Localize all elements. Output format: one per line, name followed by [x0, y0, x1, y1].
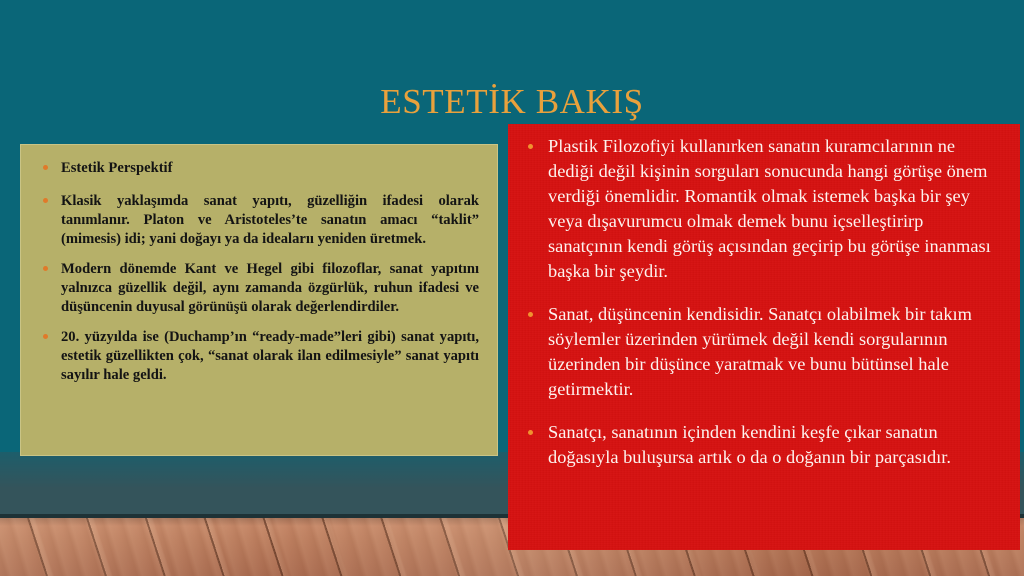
list-item-text: Modern dönemde Kant ve Hegel gibi filozo…: [61, 261, 479, 315]
presentation-slide: ESTETİK BAKIŞ Estetik Perspektif Klasik …: [0, 0, 1024, 576]
list-item: Plastik Filozofiyi kullanırken sanatın k…: [522, 134, 1002, 284]
list-item-text: Sanatçı, sanatının içinden kendini keşfe…: [548, 422, 951, 467]
list-item: Estetik Perspektif: [39, 159, 479, 178]
list-item-text: Klasik yaklaşımda sanat yapıtı, güzelliğ…: [61, 193, 479, 247]
list-item: 20. yüzyılda ise (Duchamp’ın “ready-made…: [39, 328, 479, 385]
bullet-dot-icon: [528, 430, 533, 435]
list-item: Sanatçı, sanatının içinden kendini keşfe…: [522, 420, 1002, 470]
slide-title: ESTETİK BAKIŞ: [0, 82, 1024, 122]
bullet-dot-icon: [43, 165, 48, 170]
bullet-dot-icon: [528, 144, 533, 149]
list-item: Klasik yaklaşımda sanat yapıtı, güzelliğ…: [39, 192, 479, 249]
list-item-text: Estetik Perspektif: [61, 160, 172, 176]
bullet-dot-icon: [43, 334, 48, 339]
right-content-panel: Plastik Filozofiyi kullanırken sanatın k…: [508, 124, 1020, 550]
list-item-text: Plastik Filozofiyi kullanırken sanatın k…: [548, 136, 991, 281]
list-item-text: 20. yüzyılda ise (Duchamp’ın “ready-made…: [61, 329, 479, 383]
list-item: Sanat, düşüncenin kendisidir. Sanatçı ol…: [522, 302, 1002, 402]
bullet-dot-icon: [528, 312, 533, 317]
left-content-panel: Estetik Perspektif Klasik yaklaşımda san…: [20, 144, 498, 456]
list-item: Modern dönemde Kant ve Hegel gibi filozo…: [39, 260, 479, 317]
list-item-text: Sanat, düşüncenin kendisidir. Sanatçı ol…: [548, 304, 972, 399]
bullet-dot-icon: [43, 266, 48, 271]
bullet-dot-icon: [43, 198, 48, 203]
